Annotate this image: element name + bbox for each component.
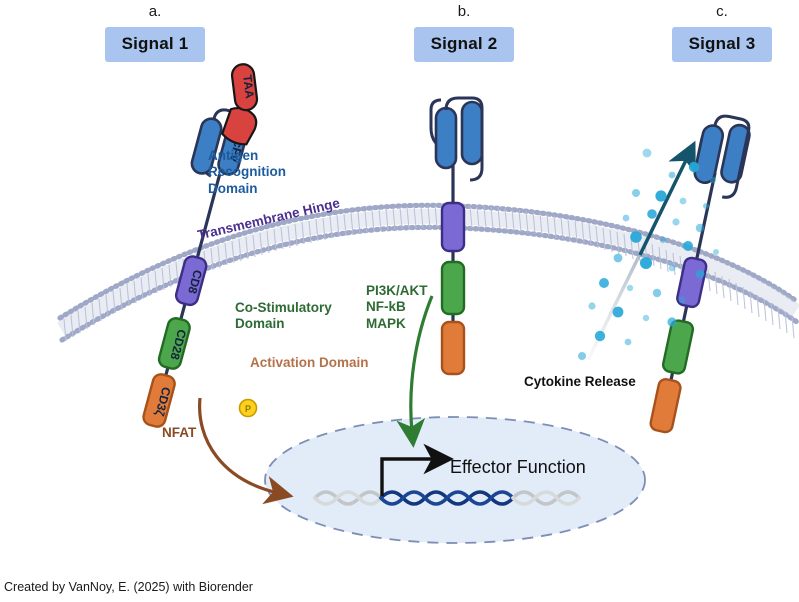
activation-domain-c bbox=[649, 378, 681, 433]
costim-cd28-domain: CD28 bbox=[157, 316, 191, 370]
nucleus bbox=[265, 417, 645, 543]
figure-canvas: scFv TAA CD8 CD28 bbox=[0, 0, 799, 602]
activation-cd3z-domain: CD3ζ bbox=[142, 372, 177, 428]
signal-2-chip[interactable]: Signal 2 bbox=[414, 27, 514, 62]
phosphate-label: P bbox=[245, 404, 251, 414]
taa-label: TAA bbox=[240, 74, 257, 100]
signal-3-chip[interactable]: Signal 3 bbox=[672, 27, 772, 62]
panel-letter-c: c. bbox=[692, 3, 752, 20]
costimulatory-domain-label: Co-Stimulatory Domain bbox=[235, 300, 332, 333]
costim-domain-c bbox=[662, 319, 694, 374]
nucleus-membrane bbox=[265, 417, 645, 543]
panel-letter-b: b. bbox=[434, 3, 494, 20]
costim-domain-b bbox=[442, 262, 464, 314]
activation-domain-label: Activation Domain bbox=[250, 355, 369, 371]
scfv-domain-b bbox=[431, 98, 482, 180]
signal-1-chip[interactable]: Signal 1 bbox=[105, 27, 205, 62]
panel-letter-a: a. bbox=[125, 3, 185, 20]
cytokine-release-label: Cytokine Release bbox=[524, 374, 636, 390]
signaling-pathways-label: PI3K/AKT NF-kB MAPK bbox=[366, 283, 428, 332]
nfat-label: NFAT bbox=[162, 425, 196, 441]
hinge-domain-b bbox=[442, 203, 464, 251]
activation-domain-b bbox=[442, 322, 464, 374]
antigen-recognition-domain-label: Antigen Recognition Domain bbox=[208, 148, 286, 197]
figure-credit: Created by VanNoy, E. (2025) with Bioren… bbox=[4, 580, 253, 594]
effector-function-label: Effector Function bbox=[450, 457, 586, 479]
phosphate-marker: P bbox=[240, 400, 257, 417]
scfv-domain-c bbox=[691, 112, 753, 200]
car-signal2 bbox=[431, 98, 482, 374]
